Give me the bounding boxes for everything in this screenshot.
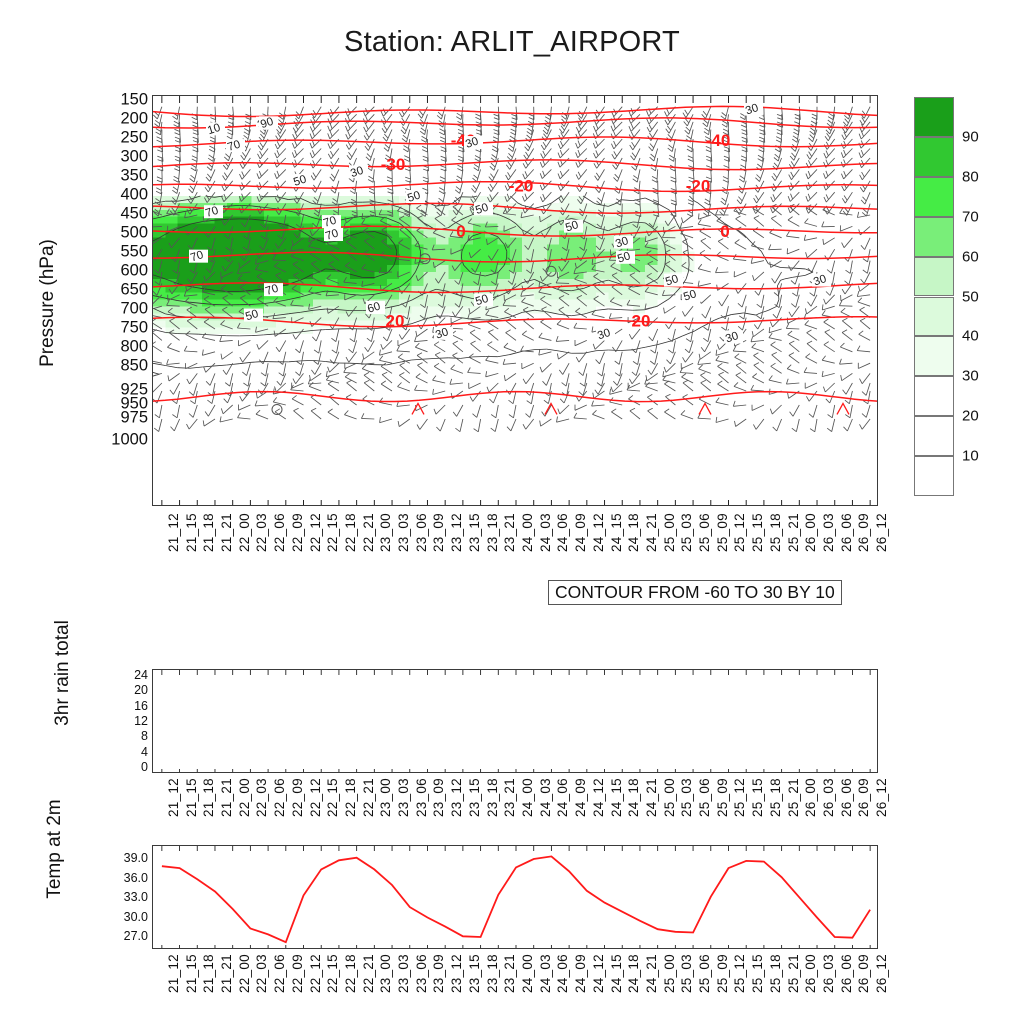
time-tick: 23_21	[502, 778, 517, 817]
time-tick: 24_09	[573, 778, 588, 817]
colorbar-cell	[914, 177, 954, 217]
time-tick: 21_12	[166, 513, 181, 552]
time-tick: 26_00	[803, 778, 818, 817]
time-tick: 25_03	[679, 954, 694, 993]
time-tick: 21_15	[184, 513, 199, 552]
colorbar-label: 30	[962, 368, 979, 385]
time-tick: 22_00	[237, 954, 252, 993]
pressure-tick: 850	[120, 357, 148, 376]
time-tick: 22_12	[308, 513, 323, 552]
time-tick: 25_15	[750, 778, 765, 817]
time-tick: 24_21	[644, 954, 659, 993]
temp-axis: 39.036.033.030.027.0	[88, 845, 148, 949]
rh-colorbar: 908070605040302010	[914, 97, 954, 496]
pressure-tick: 400	[120, 186, 148, 205]
pressure-tick: 700	[120, 300, 148, 319]
time-tick: 25_09	[715, 954, 730, 993]
colorbar-cell	[914, 137, 954, 177]
colorbar-label: 90	[962, 128, 979, 145]
time-tick: 24_00	[520, 778, 535, 817]
time-tick: 24_06	[555, 954, 570, 993]
time-tick: 25_03	[679, 778, 694, 817]
time-tick: 22_09	[290, 513, 305, 552]
time-tick: 24_18	[626, 513, 641, 552]
time-tick: 26_06	[839, 778, 854, 817]
rain-plot	[153, 670, 878, 773]
time-tick: 25_15	[750, 513, 765, 552]
pressure-tick: 350	[120, 167, 148, 186]
colorbar-label: 20	[962, 408, 979, 425]
time-tick: 22_21	[361, 513, 376, 552]
time-tick: 26_09	[856, 954, 871, 993]
time-tick: 22_00	[237, 778, 252, 817]
colorbar-cell	[914, 217, 954, 257]
time-tick: 23_21	[502, 513, 517, 552]
colorbar-cell	[914, 456, 954, 496]
time-tick: 26_12	[874, 513, 889, 552]
colorbar-cell	[914, 257, 954, 297]
time-tick: 24_06	[555, 513, 570, 552]
time-tick: 23_15	[467, 954, 482, 993]
svg-text:20: 20	[386, 312, 405, 331]
rain-tick: 0	[141, 760, 148, 774]
time-tick: 22_21	[361, 778, 376, 817]
time-tick: 25_12	[732, 954, 747, 993]
time-tick: 25_00	[662, 778, 677, 817]
temp-tick: 39.0	[124, 851, 148, 865]
time-tick: 26_00	[803, 954, 818, 993]
time-tick: 24_12	[591, 954, 606, 993]
time-tick: 25_09	[715, 778, 730, 817]
time-tick: 24_03	[538, 778, 553, 817]
time-tick: 22_09	[290, 954, 305, 993]
time-tick: 21_12	[166, 778, 181, 817]
time-tick: 25_18	[768, 954, 783, 993]
time-tick: 22_06	[272, 513, 287, 552]
pressure-tick: 975	[120, 409, 148, 428]
time-tick: 24_03	[538, 954, 553, 993]
rain-tick: 12	[134, 714, 148, 728]
colorbar-cell	[914, 416, 954, 456]
pressure-tick: 200	[120, 110, 148, 129]
time-tick: 22_18	[343, 778, 358, 817]
rain-axis: 24201612840	[96, 669, 148, 773]
time-tick: 23_03	[396, 954, 411, 993]
time-tick: 24_21	[644, 778, 659, 817]
temp-tick: 30.0	[124, 910, 148, 924]
rain-panel	[152, 669, 878, 773]
time-tick: 23_15	[467, 513, 482, 552]
svg-text:0: 0	[456, 222, 465, 241]
time-tick: 24_18	[626, 954, 641, 993]
time-tick: 24_12	[591, 513, 606, 552]
rain-tick: 24	[134, 668, 148, 682]
temp-tick: 33.0	[124, 890, 148, 904]
time-tick: 23_03	[396, 778, 411, 817]
pressure-tick: 550	[120, 243, 148, 262]
time-tick: 22_06	[272, 778, 287, 817]
time-tick: 23_09	[431, 954, 446, 993]
rain-time-axis: 21_1221_1521_1821_2122_0022_0322_0622_09…	[152, 778, 878, 848]
time-tick: 21_18	[201, 513, 216, 552]
sounding-time-axis: 21_1221_1521_1821_2122_0022_0322_0622_09…	[152, 513, 878, 583]
time-tick: 23_09	[431, 513, 446, 552]
time-tick: 23_21	[502, 954, 517, 993]
svg-text:20: 20	[632, 312, 651, 331]
time-tick: 22_18	[343, 954, 358, 993]
temp-tick: 27.0	[124, 929, 148, 943]
time-tick: 25_12	[732, 778, 747, 817]
time-tick: 22_06	[272, 954, 287, 993]
time-tick: 22_15	[325, 778, 340, 817]
time-tick: 24_09	[573, 954, 588, 993]
rain-tick: 4	[141, 745, 148, 759]
temp-plot	[153, 846, 878, 949]
time-tick: 23_15	[467, 778, 482, 817]
time-tick: 26_12	[874, 954, 889, 993]
time-tick: 21_21	[219, 954, 234, 993]
pressure-tick: 500	[120, 224, 148, 243]
contour-legend-box: CONTOUR FROM -60 TO 30 BY 10	[548, 580, 842, 605]
time-tick: 22_15	[325, 954, 340, 993]
time-tick: 24_12	[591, 778, 606, 817]
time-tick: 25_18	[768, 778, 783, 817]
time-tick: 23_12	[449, 954, 464, 993]
time-tick: 25_15	[750, 954, 765, 993]
time-tick: 23_06	[414, 513, 429, 552]
time-tick: 25_21	[786, 778, 801, 817]
time-tick: 22_12	[308, 954, 323, 993]
pressure-tick: 650	[120, 281, 148, 300]
pressure-tick: 750	[120, 319, 148, 338]
colorbar-label: 50	[962, 288, 979, 305]
pressure-tick: 600	[120, 262, 148, 281]
time-tick: 24_21	[644, 513, 659, 552]
time-tick: 23_18	[485, 513, 500, 552]
sounding-plot: -40-40-30-20-200020201030907070707050505…	[153, 96, 878, 506]
pressure-tick: 150	[120, 91, 148, 110]
time-tick: 22_15	[325, 513, 340, 552]
colorbar-cell	[914, 336, 954, 376]
time-tick: 24_03	[538, 513, 553, 552]
time-tick: 21_15	[184, 954, 199, 993]
time-tick: 22_03	[254, 778, 269, 817]
colorbar-cell	[914, 97, 954, 137]
time-tick: 23_06	[414, 778, 429, 817]
time-tick: 21_18	[201, 954, 216, 993]
time-tick: 24_15	[609, 513, 624, 552]
time-tick: 23_18	[485, 778, 500, 817]
time-tick: 24_09	[573, 513, 588, 552]
time-tick: 21_12	[166, 954, 181, 993]
time-tick: 21_15	[184, 778, 199, 817]
time-tick: 25_06	[697, 513, 712, 552]
time-tick: 25_00	[662, 954, 677, 993]
time-tick: 25_12	[732, 513, 747, 552]
time-tick: 23_00	[378, 778, 393, 817]
colorbar-label: 80	[962, 168, 979, 185]
rain-axis-title: 3hr rain total	[52, 588, 74, 758]
time-tick: 25_18	[768, 513, 783, 552]
time-tick: 23_00	[378, 954, 393, 993]
time-tick: 24_00	[520, 954, 535, 993]
svg-text:-20: -20	[686, 177, 711, 196]
colorbar-label: 40	[962, 328, 979, 345]
rain-tick: 16	[134, 699, 148, 713]
time-tick: 21_18	[201, 778, 216, 817]
time-tick: 21_21	[219, 778, 234, 817]
temp-panel	[152, 845, 878, 949]
temp-axis-title: Temp at 2m	[44, 764, 66, 934]
time-tick: 23_00	[378, 513, 393, 552]
time-tick: 23_18	[485, 954, 500, 993]
svg-text:-40: -40	[706, 131, 731, 150]
time-tick: 24_15	[609, 954, 624, 993]
colorbar-label: 10	[962, 448, 979, 465]
time-tick: 23_03	[396, 513, 411, 552]
time-tick: 26_06	[839, 513, 854, 552]
time-tick: 25_21	[786, 513, 801, 552]
time-tick: 23_12	[449, 778, 464, 817]
page-title: Station: ARLIT_AIRPORT	[0, 26, 1024, 59]
time-tick: 26_09	[856, 513, 871, 552]
time-tick: 22_18	[343, 513, 358, 552]
time-tick: 26_03	[821, 778, 836, 817]
pressure-tick: 250	[120, 129, 148, 148]
time-tick: 24_15	[609, 778, 624, 817]
time-tick: 25_21	[786, 954, 801, 993]
time-tick: 26_00	[803, 513, 818, 552]
time-tick: 26_12	[874, 778, 889, 817]
time-tick: 26_06	[839, 954, 854, 993]
time-tick: 22_09	[290, 778, 305, 817]
colorbar-cell	[914, 376, 954, 416]
time-tick: 25_06	[697, 954, 712, 993]
colorbar-label: 70	[962, 208, 979, 225]
time-tick: 23_09	[431, 778, 446, 817]
pressure-tick: 450	[120, 205, 148, 224]
temp-tick: 36.0	[124, 871, 148, 885]
time-tick: 26_03	[821, 954, 836, 993]
pressure-tick: 800	[120, 338, 148, 357]
rain-tick: 20	[134, 683, 148, 697]
svg-text:-30: -30	[381, 155, 406, 174]
time-tick: 22_03	[254, 954, 269, 993]
time-tick: 24_00	[520, 513, 535, 552]
time-tick: 24_06	[555, 778, 570, 817]
colorbar-cell	[914, 297, 954, 337]
time-tick: 25_03	[679, 513, 694, 552]
svg-text:0: 0	[720, 222, 729, 241]
time-tick: 22_03	[254, 513, 269, 552]
sounding-panel: -40-40-30-20-200020201030907070707050505…	[152, 95, 878, 506]
svg-text:-20: -20	[509, 177, 534, 196]
pressure-tick: 300	[120, 148, 148, 167]
time-tick: 26_09	[856, 778, 871, 817]
pressure-tick: 1000	[111, 431, 148, 450]
time-tick: 22_21	[361, 954, 376, 993]
time-tick: 22_00	[237, 513, 252, 552]
time-tick: 21_21	[219, 513, 234, 552]
time-tick: 22_12	[308, 778, 323, 817]
time-tick: 23_06	[414, 954, 429, 993]
time-tick: 25_06	[697, 778, 712, 817]
rain-tick: 8	[141, 729, 148, 743]
pressure-axis-title: Pressure (hPa)	[37, 193, 59, 413]
time-tick: 24_18	[626, 778, 641, 817]
time-tick: 23_12	[449, 513, 464, 552]
colorbar-label: 60	[962, 248, 979, 265]
time-tick: 26_03	[821, 513, 836, 552]
time-tick: 25_00	[662, 513, 677, 552]
temp-time-axis: 21_1221_1521_1821_2122_0022_0322_0622_09…	[152, 954, 878, 1024]
time-tick: 25_09	[715, 513, 730, 552]
pressure-axis: 1502002503003504004505005506006507007508…	[86, 95, 148, 506]
